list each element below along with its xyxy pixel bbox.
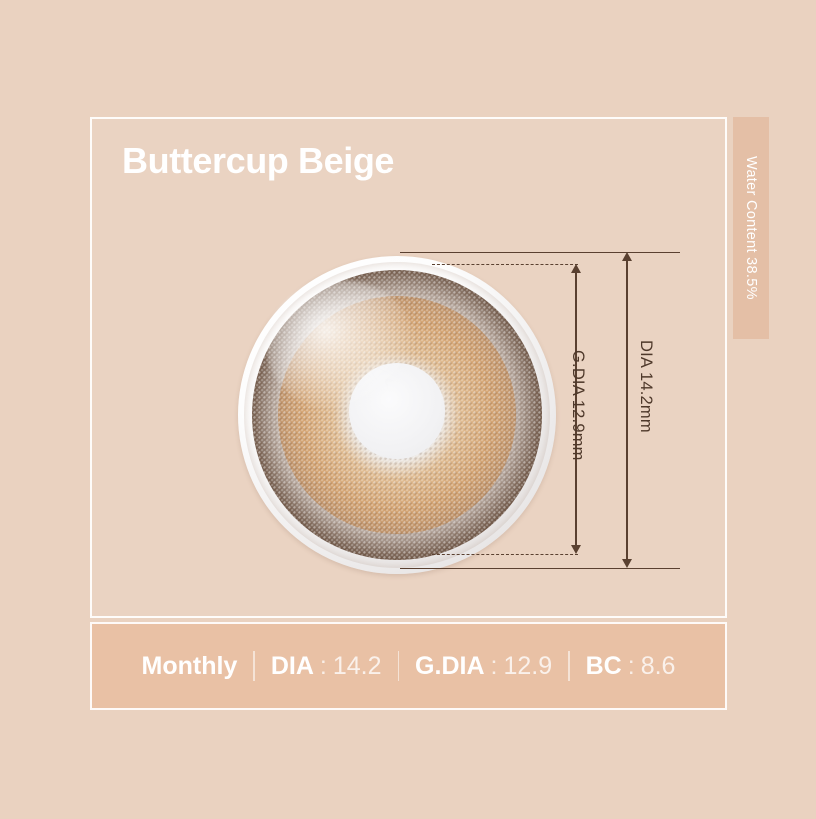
spec-item-gdia: G.DIA : 12.9 [399,652,568,681]
dia-arrow-top [622,252,632,261]
gdia-dimension-label: G.DIA 12.9mm [568,350,587,461]
dia-dimension-label: DIA 14.2mm [636,340,655,433]
spec-replacement-period: Monthly [126,652,254,681]
spec-value-gdia: 12.9 [503,652,552,681]
gdia-leader-bottom [432,554,578,555]
spec-colon-gdia: : [485,652,504,681]
spec-key-gdia: G.DIA [415,652,484,681]
water-content-tab: Water Content 38.5% [733,117,769,339]
spec-key-dia: DIA [271,652,314,681]
spec-colon-dia: : [314,652,333,681]
gdia-arrow-bottom [571,545,581,554]
lens-rim-shading [244,262,550,568]
dia-dimension-line [626,256,628,564]
spec-item-bc: BC : 8.6 [570,652,692,681]
product-image-canvas: { "product": { "title": "Buttercup Beige… [0,0,816,819]
spec-value-dia: 14.2 [333,652,382,681]
water-content-label: Water Content 38.5% [743,156,759,300]
spec-colon-bc: : [622,652,641,681]
dia-leader-top [400,252,680,253]
contact-lens-image [238,256,556,574]
dia-leader-bottom [400,568,680,569]
product-title: Buttercup Beige [122,140,394,182]
dia-arrow-bottom [622,559,632,568]
gdia-arrow-top [571,264,581,273]
spec-value-bc: 8.6 [641,652,676,681]
spec-item-dia: DIA : 14.2 [255,652,398,681]
gdia-leader-top [432,264,578,265]
specification-list: Monthly DIA : 14.2 G.DIA : 12.9 BC : 8.6 [126,651,692,681]
spec-key-bc: BC [586,652,622,681]
specification-bar: Monthly DIA : 14.2 G.DIA : 12.9 BC : 8.6 [90,622,727,710]
